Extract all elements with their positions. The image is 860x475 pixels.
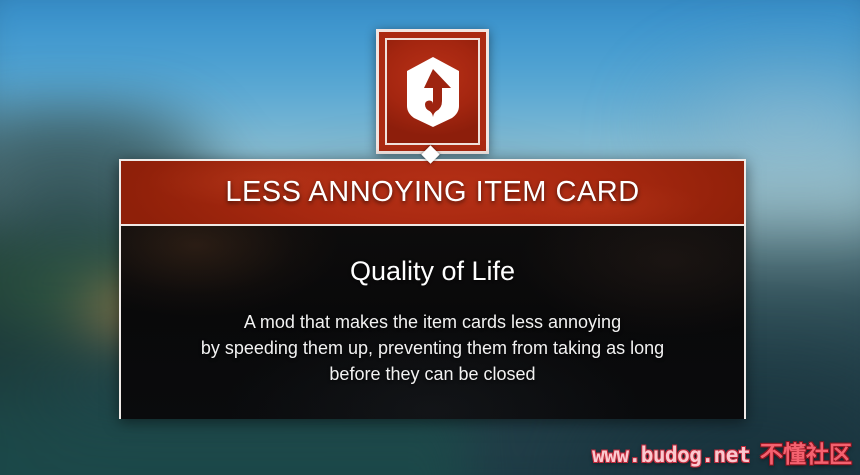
card-description-line: before they can be closed: [153, 361, 713, 387]
card-description-line: by speeding them up, preventing them fro…: [153, 335, 713, 361]
card-description: A mod that makes the item cards less ann…: [153, 309, 713, 387]
card-description-line: A mod that makes the item cards less ann…: [153, 309, 713, 335]
watermark-domain: www.budog.net: [592, 443, 750, 467]
mod-info-card: LESS ANNOYING ITEM CARD Quality of Life …: [119, 159, 746, 419]
card-body: Quality of Life A mod that makes the ite…: [121, 226, 744, 419]
screenshot-root: LESS ANNOYING ITEM CARD Quality of Life …: [0, 0, 860, 475]
mod-icon-inner-frame: [385, 38, 480, 145]
watermark: www.budog.net 不懂社区: [592, 435, 852, 469]
card-title: LESS ANNOYING ITEM CARD: [225, 176, 639, 209]
mod-icon-badge: [376, 29, 489, 154]
upgrade-arrow-hexagon-icon: [403, 56, 463, 128]
card-header: LESS ANNOYING ITEM CARD: [121, 161, 744, 226]
card-subtitle: Quality of Life: [350, 256, 515, 287]
watermark-site-name: 不懂社区: [760, 435, 852, 469]
